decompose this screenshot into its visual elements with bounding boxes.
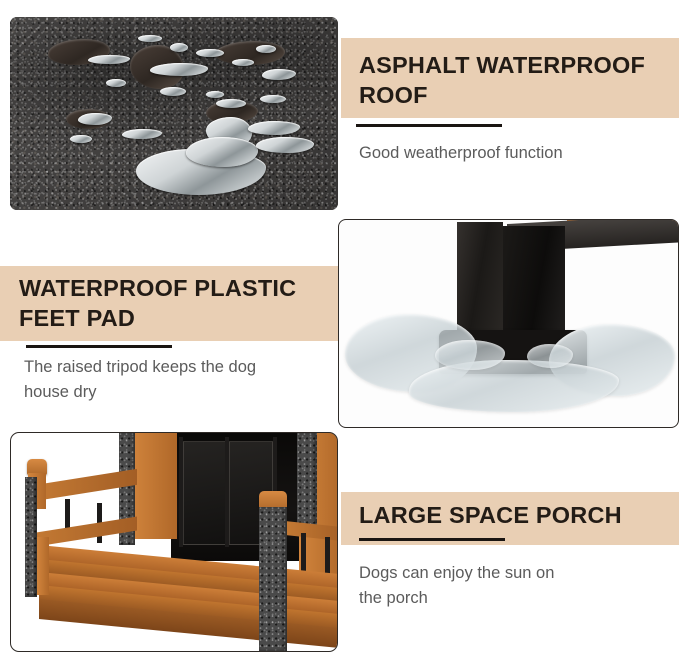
- water-droplet: [256, 45, 276, 53]
- infographic-canvas: ASPHALT WATERPROOF ROOF Good weatherproo…: [0, 0, 679, 652]
- feature-2-image-foot-pad: [338, 219, 679, 428]
- feature-1-image-asphalt-roof: [10, 17, 338, 210]
- window-frame: [179, 437, 183, 547]
- water-puddle: [186, 137, 258, 167]
- feature-3-heading: LARGE SPACE PORCH: [359, 500, 669, 530]
- feature-1-divider: [356, 124, 502, 127]
- water-droplet: [70, 135, 92, 143]
- water-droplet: [138, 35, 162, 42]
- water-droplet: [216, 99, 246, 108]
- feature-2-divider: [26, 345, 172, 348]
- water-droplet: [170, 43, 188, 52]
- porch-post-right: [259, 507, 287, 651]
- window-frame: [225, 437, 229, 547]
- water-puddle: [256, 137, 314, 153]
- water-droplet: [150, 63, 208, 76]
- porch-post-left: [25, 477, 37, 597]
- water-droplet: [527, 344, 573, 368]
- water-droplet: [232, 59, 254, 66]
- water-pool: [409, 360, 619, 412]
- feature-3-body: Dogs can enjoy the sun on the porch: [359, 561, 619, 611]
- water-droplet: [160, 87, 186, 96]
- feature-1-heading: ASPHALT WATERPROOF ROOF: [359, 50, 669, 110]
- water-droplet: [106, 79, 126, 87]
- water-droplet: [435, 340, 505, 370]
- feature-1-body: Good weatherproof function: [359, 141, 659, 166]
- window-pane: [183, 441, 227, 545]
- post-left: [457, 222, 503, 338]
- feature-3-image-porch: [10, 432, 338, 652]
- post-left-lower: [37, 537, 49, 595]
- water-droplet: [260, 95, 286, 103]
- water-droplet: [196, 49, 224, 57]
- corner-post-textured-right: [297, 433, 317, 533]
- feature-2-heading: WATERPROOF PLASTIC FEET PAD: [19, 273, 329, 333]
- water-droplet: [206, 91, 224, 98]
- feature-3-divider: [359, 538, 505, 541]
- feature-2-body: The raised tripod keeps the dog house dr…: [24, 355, 324, 405]
